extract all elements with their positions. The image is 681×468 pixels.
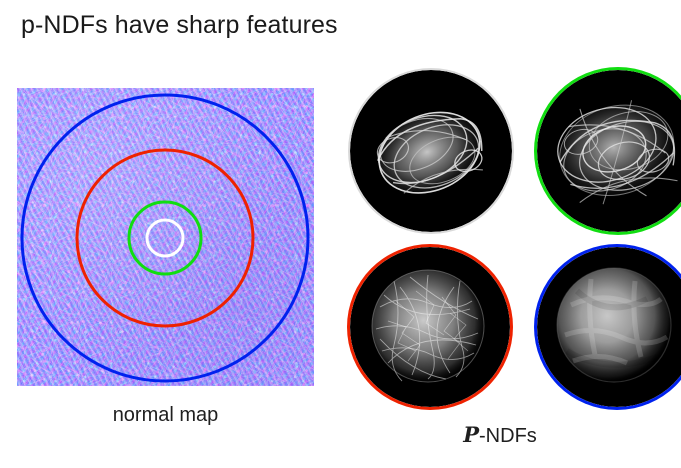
- normal-map-caption: normal map: [17, 404, 314, 427]
- page-title: p-NDFs have sharp features: [21, 10, 338, 40]
- ndf-caption: P-NDFs: [350, 422, 650, 448]
- blue-ring: [22, 95, 308, 381]
- ndf-disc-white: [350, 70, 512, 232]
- ndf-disc-white-lobe: [350, 70, 512, 232]
- white-ring: [147, 220, 183, 256]
- red-ring: [77, 150, 253, 326]
- slide-canvas: p-NDFs have sharp features normal map: [0, 0, 681, 468]
- script-p-glyph: P: [463, 422, 479, 447]
- ndf-disc-green: [537, 70, 681, 232]
- ndf-disc-blue: [537, 247, 681, 407]
- ndf-disc-red: [350, 247, 510, 407]
- ndf-disc-green-lobe: [537, 70, 681, 232]
- ndf-caption-suffix: -NDFs: [479, 425, 537, 447]
- normal-map-figure: [17, 88, 314, 386]
- green-ring: [129, 202, 201, 274]
- ndf-disc-blue-lobe: [537, 247, 681, 407]
- normal-map-footprint-rings: [17, 88, 314, 386]
- ndf-disc-red-lobe: [350, 247, 510, 407]
